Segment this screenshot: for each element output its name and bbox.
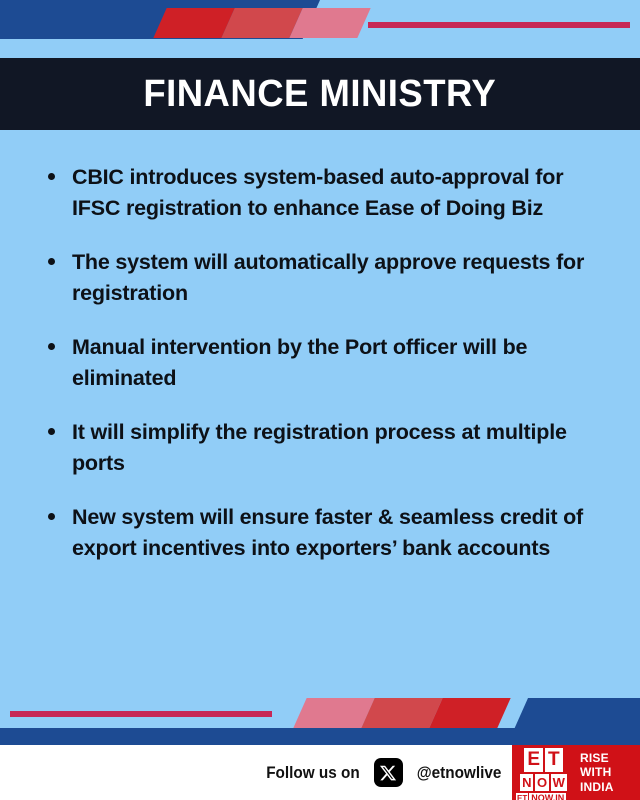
- bottom-navy-strip: [0, 728, 640, 745]
- website-suffix: NOW.IN: [529, 793, 566, 800]
- bullet-dot-icon: [48, 343, 55, 350]
- list-item: New system will ensure faster & seamless…: [44, 502, 616, 563]
- list-item-text: Manual intervention by the Port officer …: [72, 335, 527, 390]
- bottom-accent-bar-red-dark: [429, 698, 510, 728]
- bullet-dot-icon: [48, 173, 55, 180]
- top-accent-bar-pink: [289, 8, 370, 38]
- et-letter-t: T: [545, 748, 563, 772]
- list-item: The system will automatically approve re…: [44, 247, 616, 308]
- now-letter-o: O: [535, 774, 549, 791]
- etnow-website: ET NOW.IN: [516, 793, 571, 800]
- list-item: Manual intervention by the Port officer …: [44, 332, 616, 393]
- list-item: CBIC introduces system-based auto-approv…: [44, 162, 616, 223]
- etnow-logo-mark: E T N O W ET NOW.IN: [512, 745, 574, 800]
- social-handle[interactable]: @etnowlive: [417, 763, 502, 783]
- bottom-decorative-banner: [0, 692, 640, 745]
- etnow-logo[interactable]: E T N O W ET NOW.IN RISE WITH INDIA: [512, 745, 640, 800]
- bullet-dot-icon: [48, 428, 55, 435]
- top-decorative-banner: [0, 0, 640, 58]
- tagline-line-3: INDIA: [580, 780, 614, 794]
- follow-label: Follow us on: [266, 763, 360, 783]
- now-letter-w: W: [551, 774, 567, 791]
- follow-row: Follow us on @etnowlive: [0, 745, 512, 800]
- list-item-text: It will simplify the registration proces…: [72, 420, 567, 475]
- bullet-dot-icon: [48, 258, 55, 265]
- content-area: CBIC introduces system-based auto-approv…: [0, 130, 640, 692]
- bullet-dot-icon: [48, 513, 55, 520]
- bottom-crimson-rule: [10, 711, 272, 717]
- page-title: FINANCE MINISTRY: [144, 73, 497, 116]
- tagline-line-1: RISE: [580, 751, 609, 765]
- list-item: It will simplify the registration proces…: [44, 417, 616, 478]
- et-letter-e: E: [524, 748, 543, 772]
- top-crimson-rule: [368, 22, 630, 28]
- x-twitter-icon[interactable]: [374, 758, 403, 787]
- website-prefix: ET: [516, 793, 528, 800]
- title-bar: FINANCE MINISTRY: [0, 58, 640, 130]
- now-letter-n: N: [520, 774, 533, 791]
- list-item-text: The system will automatically approve re…: [72, 250, 584, 305]
- etnow-tagline: RISE WITH INDIA: [574, 745, 640, 800]
- list-item-text: New system will ensure faster & seamless…: [72, 505, 583, 560]
- bullet-list: CBIC introduces system-based auto-approv…: [44, 162, 616, 563]
- tagline-line-2: WITH: [580, 765, 611, 779]
- footer: Follow us on @etnowlive E T N O W: [0, 745, 640, 800]
- et-wordmark: E T: [516, 748, 571, 772]
- news-card: FINANCE MINISTRY CBIC introduces system-…: [0, 0, 640, 800]
- now-wordmark: N O W: [516, 774, 571, 791]
- list-item-text: CBIC introduces system-based auto-approv…: [72, 165, 563, 220]
